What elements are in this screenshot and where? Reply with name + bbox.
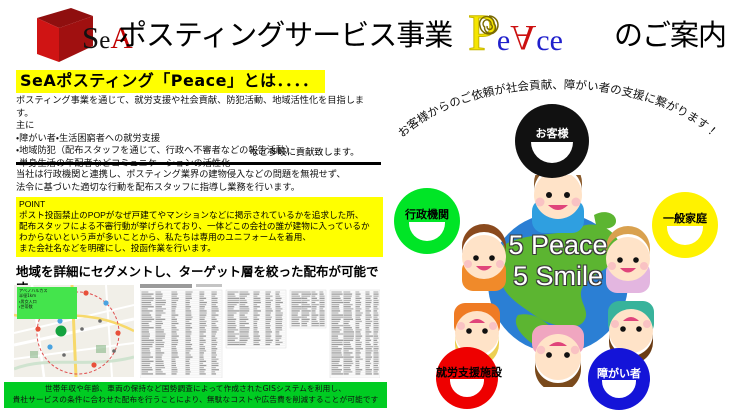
spiral-icon <box>476 12 502 38</box>
center-slogan: 5 Peace 5 Smile <box>444 230 672 292</box>
gis-banner: 世帯年収や年齢、車両の保持など国勢調査によって作成されたGISシステムを利用し、… <box>4 382 387 408</box>
node-disabled-person[interactable]: 障がい者 <box>588 348 650 410</box>
sea-letter-e: e <box>99 27 110 54</box>
point-line: わからないという声が多いことから、私たちは専用のユニフォームを着用、 <box>19 232 381 243</box>
node-government[interactable]: 行政機関 <box>394 188 460 254</box>
peace-wordmark: PeAce <box>468 8 563 60</box>
smile-icon <box>409 222 446 240</box>
node-disabled-person-label: 障がい者 <box>588 365 650 381</box>
slide-root: SeA ポスティングサービス事業 PeAce のご案内 SeAポスティング「Pe… <box>0 0 736 414</box>
gis-map-thumbnail: アベノハルカス 半径1km ・男女人口 ・世帯数 <box>14 285 134 377</box>
section1-line: 主に <box>16 120 381 133</box>
smile-icon <box>531 142 572 163</box>
smile-icon <box>602 380 637 397</box>
node-household[interactable]: 一般家庭 <box>652 192 718 258</box>
node-household-label: 一般家庭 <box>652 210 718 226</box>
smile-icon <box>450 379 485 396</box>
map-note-line: ・世帯数 <box>19 304 75 309</box>
gis-data-spreadsheet <box>140 284 380 378</box>
gis-banner-line: 世帯年収や年齢、車両の保持など国勢調査によって作成されたGISシステムを利用し、 <box>4 384 387 395</box>
section2-line: 当社は行政機関と連携し、ポスティング業界の建物侵入などの問題を無視せず、 <box>16 169 381 182</box>
node-customer[interactable]: お客様 <box>515 104 589 178</box>
node-customer-label: お客様 <box>515 125 589 141</box>
node-support-facility-label: 就労支援施設 <box>436 364 498 380</box>
header-title-right: のご案内 <box>614 18 726 52</box>
sea-letter-s: S <box>82 20 99 55</box>
section2-body: 当社は行政機関と連携し、ポスティング業界の建物侵入などの問題を無視せず、 法令に… <box>16 169 381 194</box>
right-column: お客様からのご依頼が社会貢献、障がい者の支援に繋がります！ <box>380 60 736 414</box>
left-column: SeAポスティング「Peace」とは．．．． ポスティング事業を通じて、就労支援… <box>0 66 392 414</box>
section1-heading: SeAポスティング「Peace」とは．．．． <box>16 70 325 93</box>
node-support-facility[interactable]: 就労支援施設 <box>436 347 498 409</box>
gis-banner-line: 貴社サービスの条件に合わせた配布を行うことにより、無駄なコストや広告費を削減する… <box>4 395 387 406</box>
section1-line: ポスティング事業を通じて、就労支援や社会貢献、防犯活動、地域活性化を目指します。 <box>16 95 381 120</box>
section-divider <box>16 162 381 165</box>
point-callout: POINT ポスト投函禁止のPOPがなぜ戸建てやマンションなどに掲示されているか… <box>16 197 383 257</box>
center-slogan-line1: 5 Peace <box>444 230 672 261</box>
center-slogan-line2: 5 Smile <box>444 261 672 292</box>
slide-header: SeA ポスティングサービス事業 PeAce のご案内 <box>0 0 736 66</box>
point-line: ポスト投函禁止のPOPがなぜ戸建てやマンションなどに掲示されているかを追求した所… <box>19 210 381 221</box>
point-label: POINT <box>19 199 381 210</box>
smile-icon <box>667 226 704 244</box>
peace-letters-ce: ce <box>536 24 563 57</box>
spreadsheet-graphic <box>140 284 380 378</box>
section1-body: ポスティング事業を通じて、就労支援や社会貢献、防犯活動、地域活性化を目指します。… <box>16 95 381 171</box>
map-note-overlay: アベノハルカス 半径1km ・男女人口 ・世帯数 <box>17 287 77 319</box>
point-line: また会社名などを明確にし、投函作業を行います。 <box>19 243 381 254</box>
point-line: 配布スタッフによる不審行動が挙げられており、一体どこの会社の誰が建物に入っている… <box>19 221 381 232</box>
header-title-left: ポスティングサービス事業 <box>118 18 452 52</box>
peace-letter-a-inverted: A <box>510 20 536 56</box>
node-government-label: 行政機関 <box>394 206 460 222</box>
section1-tail: など多岐に貢献致します。 <box>250 144 359 158</box>
section2-line: 法令に基づいた適切な行動を配布スタッフに指導し業務を行います。 <box>16 182 381 195</box>
